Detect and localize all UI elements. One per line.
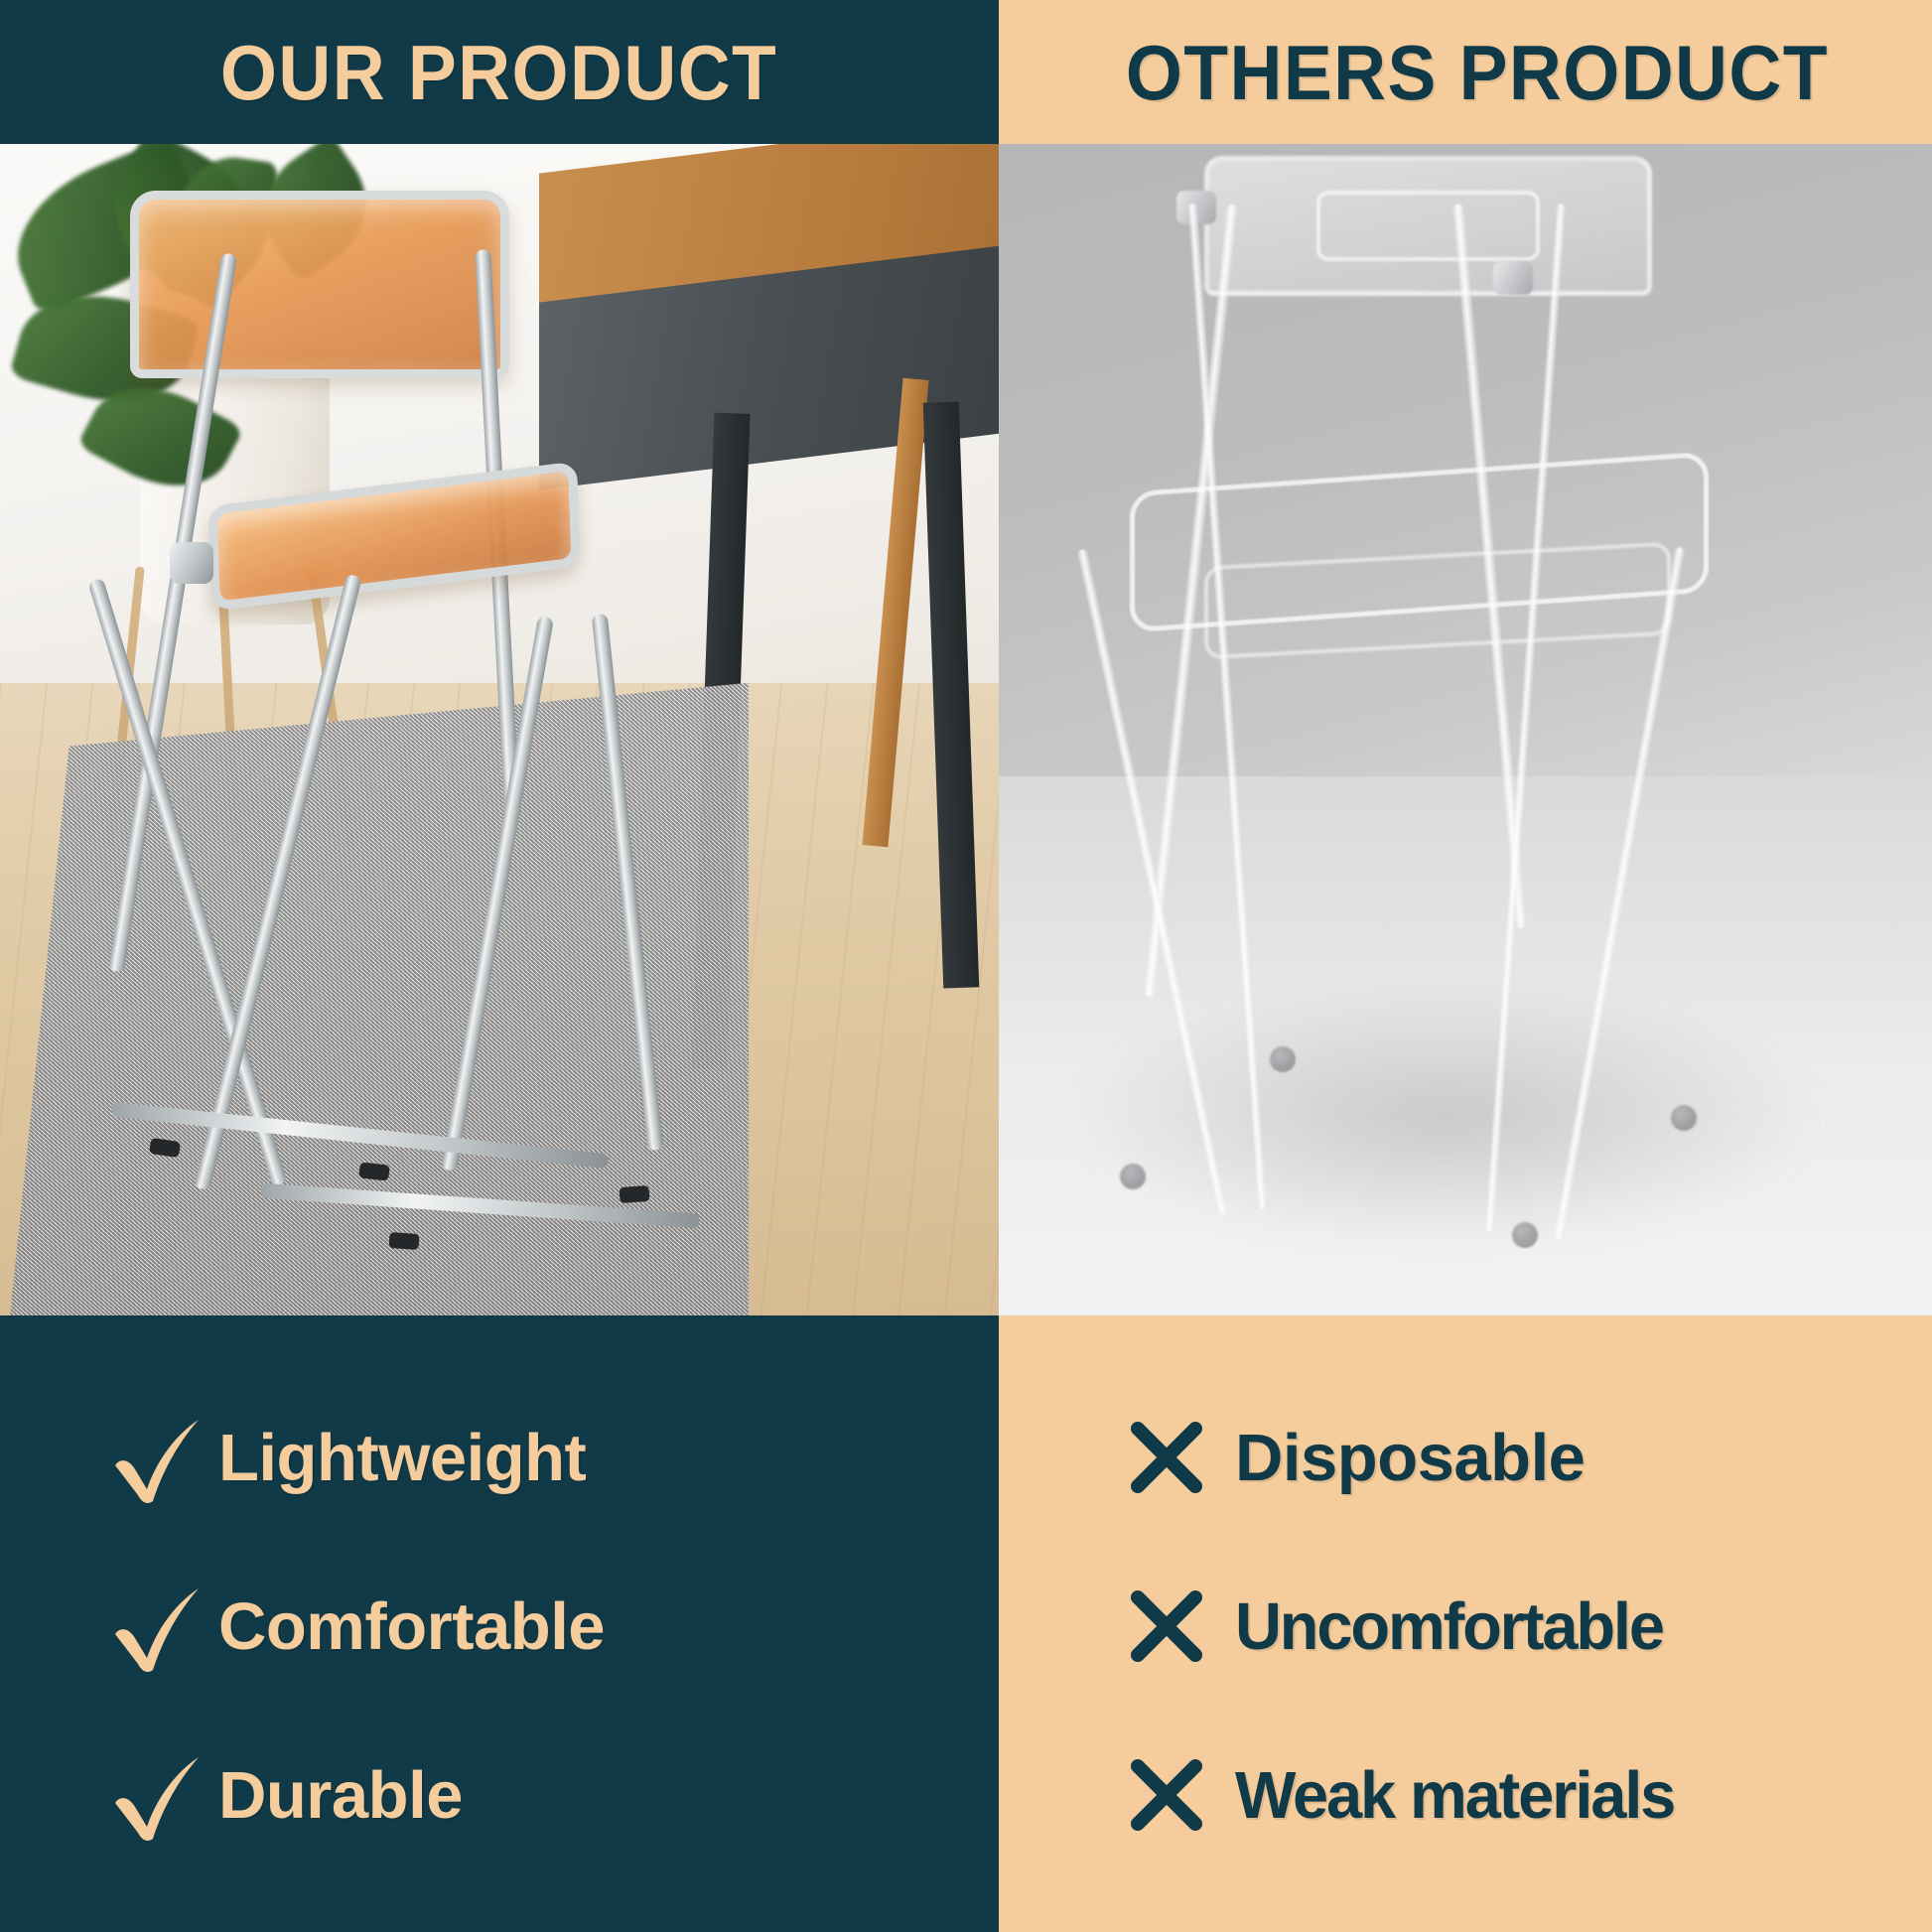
chair-foot-cap	[1671, 1105, 1697, 1131]
feature-label: Durable	[218, 1762, 463, 1829]
chair-foot-cap	[389, 1232, 420, 1250]
feature-row-comfortable: Comfortable	[107, 1572, 999, 1681]
header-right-cell: OTHERS PRODUCT	[999, 0, 1932, 144]
close-icon	[1124, 1415, 1235, 1500]
our-product-features: Lightweight Comfortable Durable	[0, 1315, 999, 1932]
feature-label: Uncomfortable	[1235, 1593, 1663, 1660]
feature-label: Weak materials	[1235, 1762, 1674, 1829]
close-icon	[1124, 1584, 1235, 1669]
clear-chair-back-detail	[1316, 191, 1541, 261]
feature-row-lightweight: Lightweight	[107, 1403, 999, 1512]
our-product-title: OUR PRODUCT	[220, 34, 777, 111]
comparison-infographic: OUR PRODUCT OTHERS PRODUCT	[0, 0, 1932, 1932]
feature-list-band: Lightweight Comfortable Durable	[0, 1315, 1932, 1932]
chair-foot-cap	[358, 1162, 390, 1180]
feature-row-disposable: Disposable	[1124, 1403, 1932, 1512]
others-product-title: OTHERS PRODUCT	[1102, 34, 1830, 111]
chair-hinge	[1493, 261, 1533, 295]
others-product-photo	[999, 144, 1932, 1315]
check-icon	[107, 1577, 218, 1676]
feature-row-durable: Durable	[107, 1740, 999, 1850]
amber-chair-back	[130, 191, 509, 378]
feature-label: Disposable	[1235, 1425, 1585, 1491]
warm-interior-scene	[0, 144, 999, 1315]
chair-foot-cap	[1270, 1046, 1296, 1072]
feature-label: Comfortable	[218, 1593, 605, 1660]
product-photo-band	[0, 144, 1932, 1315]
feature-row-uncomfortable: Uncomfortable	[1124, 1572, 1932, 1681]
chair-foot-cap	[619, 1185, 649, 1203]
check-icon	[107, 1745, 218, 1845]
check-icon	[107, 1408, 218, 1507]
header-band: OUR PRODUCT OTHERS PRODUCT	[0, 0, 1932, 144]
feature-row-weak-materials: Weak materials	[1124, 1740, 1932, 1850]
chair-hinge	[170, 542, 213, 584]
feature-label: Lightweight	[218, 1425, 586, 1491]
header-left-cell: OUR PRODUCT	[0, 0, 999, 144]
chair-foot-cap	[1120, 1164, 1146, 1189]
gray-backdrop-scene	[999, 144, 1932, 1315]
others-product-features: Disposable Uncomfortable	[999, 1315, 1932, 1932]
our-product-photo	[0, 144, 999, 1315]
chair-foot-cap	[1512, 1222, 1538, 1248]
close-icon	[1124, 1752, 1235, 1838]
